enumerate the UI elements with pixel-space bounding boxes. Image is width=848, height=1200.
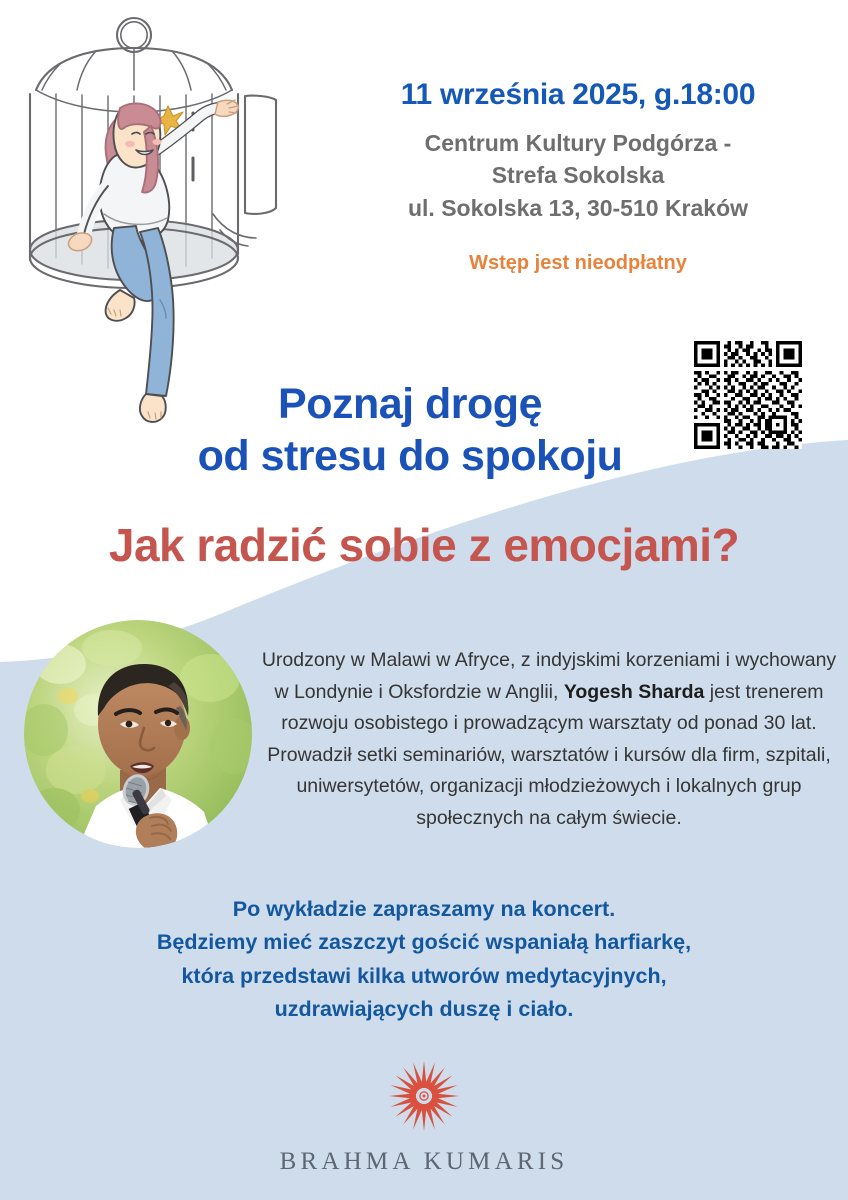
- concert-line-4: uzdrawiających duszę i ciało.: [44, 993, 804, 1026]
- concert-line-3: która przedstawi kilka utworów medytacyj…: [44, 960, 804, 993]
- event-header: 11 września 2025, g.18:00 Centrum Kultur…: [318, 78, 838, 275]
- free-entry-note: Wstęp jest nieodpłatny: [318, 252, 838, 275]
- concert-line-1: Po wykładzie zapraszamy na koncert.: [44, 893, 804, 926]
- speaker-name: Yogesh Sharda: [564, 681, 705, 703]
- venue-line-1: Centrum Kultury Podgórza -: [318, 127, 838, 160]
- page-title-line-2: od stresu do spokoju: [110, 430, 710, 482]
- woman-escaping-birdcage-illustration: [8, 8, 308, 428]
- speaker-portrait-photo: [24, 620, 252, 848]
- brahma-kumaris-wordmark: BRAHMA KUMARIS: [174, 1148, 674, 1176]
- page-subtitle: Jak radzić sobie z emocjami?: [14, 518, 834, 572]
- venue-line-2: Strefa Sokolska: [318, 159, 838, 192]
- page-title: Poznaj drogę od stresu do spokoju: [110, 378, 710, 483]
- concert-line-2: Będziemy mieć zaszczyt gościć wspaniałą …: [44, 926, 804, 959]
- concert-announcement: Po wykładzie zapraszamy na koncert. Będz…: [44, 893, 804, 1026]
- sunburst-star-icon: [384, 1056, 464, 1136]
- speaker-bio: Urodzony w Malawi w Afryce, z indyjskimi…: [258, 645, 840, 834]
- venue-line-3: ul. Sokolska 13, 30-510 Kraków: [318, 192, 838, 225]
- venue-address: Centrum Kultury Podgórza - Strefa Sokols…: [318, 127, 838, 225]
- event-date: 11 września 2025, g.18:00: [318, 78, 838, 113]
- poster-root: 11 września 2025, g.18:00 Centrum Kultur…: [0, 0, 848, 1200]
- page-title-line-1: Poznaj drogę: [110, 378, 710, 430]
